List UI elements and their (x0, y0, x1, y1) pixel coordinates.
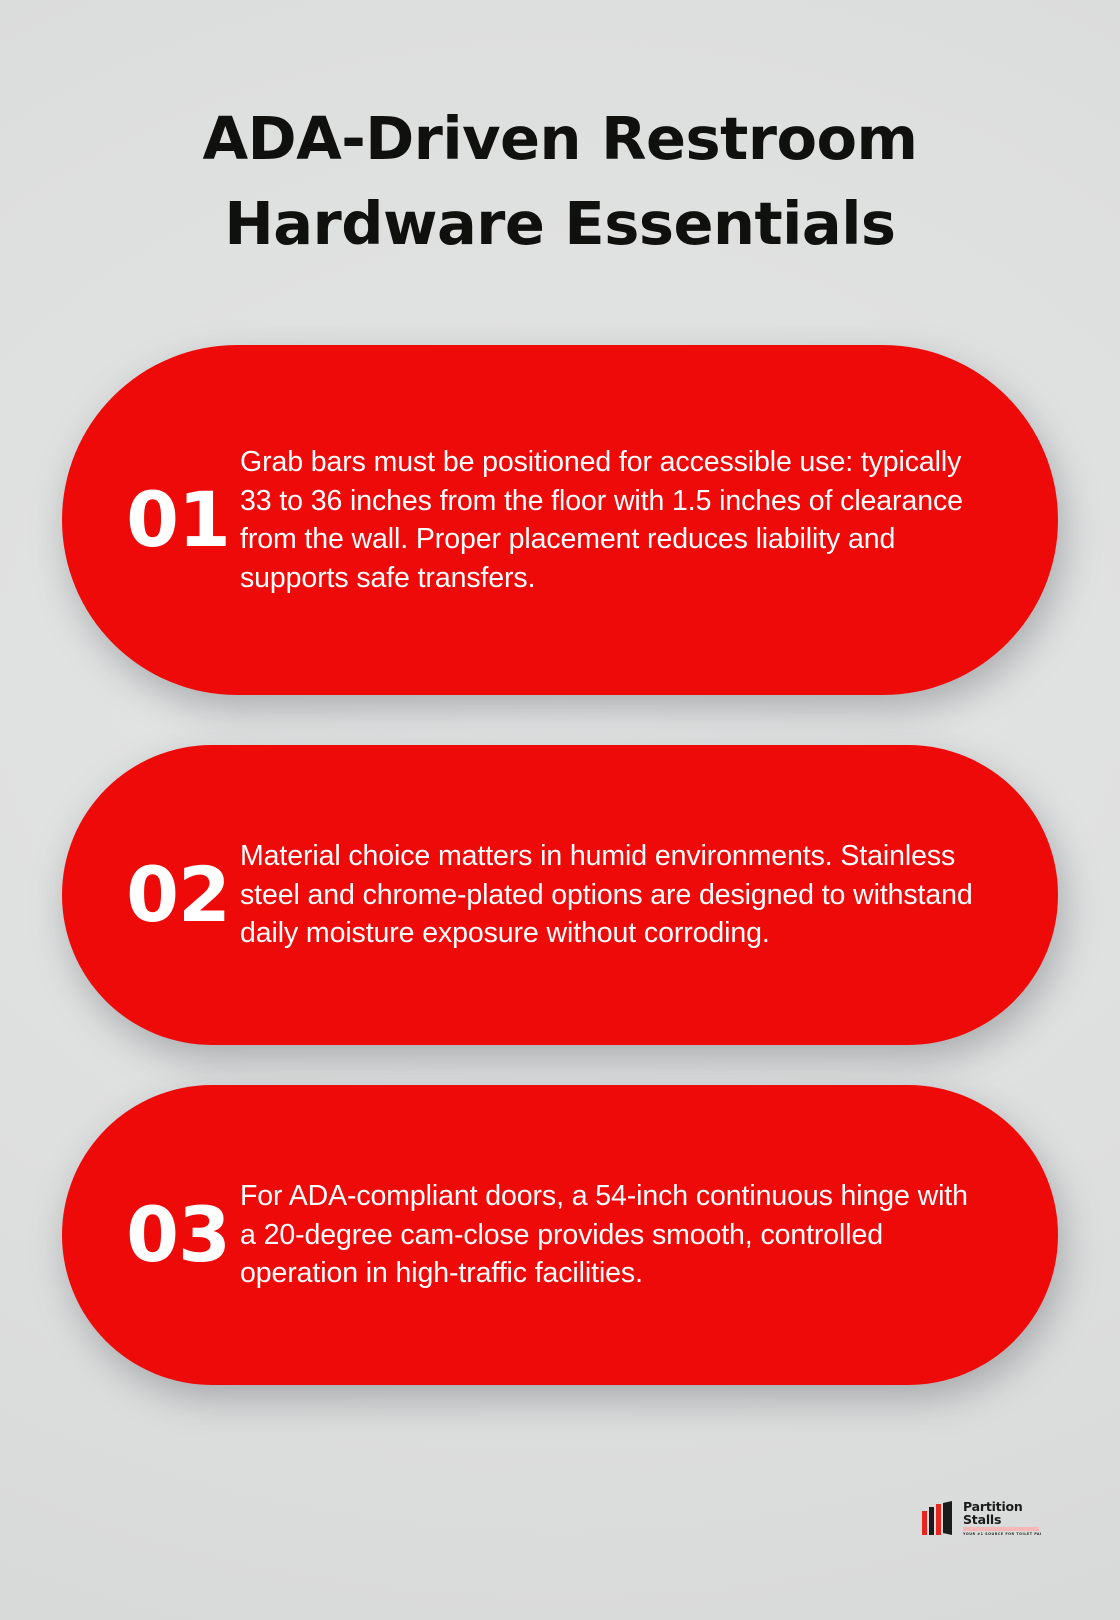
partition-bars-icon (920, 1501, 956, 1535)
brand-logo: Partition Stalls YOUR #1 SOURCE FOR TOIL… (920, 1494, 1048, 1542)
steps-list: 01 Grab bars must be positioned for acce… (0, 0, 1120, 1620)
list-item: 02 Material choice matters in humid envi… (62, 745, 1058, 1045)
list-item: 01 Grab bars must be positioned for acce… (62, 345, 1058, 695)
logo-underline-rule (963, 1527, 1039, 1531)
step-description: Grab bars must be positioned for accessi… (240, 443, 1058, 597)
step-number-badge: 02 (62, 857, 240, 933)
logo-tagline: YOUR #1 SOURCE FOR TOILET PARTITIONS (963, 1532, 1041, 1537)
step-description: For ADA-compliant doors, a 54-inch conti… (240, 1177, 1058, 1293)
logo-bar-3 (936, 1504, 941, 1535)
step-number-badge: 03 (62, 1197, 240, 1273)
logo-wordmark: Partition Stalls YOUR #1 SOURCE FOR TOIL… (963, 1500, 1048, 1537)
logo-word-stalls: Stalls (963, 1513, 1048, 1526)
logo-word-partition: Partition (963, 1500, 1048, 1513)
step-number-badge: 01 (62, 482, 240, 558)
step-description: Material choice matters in humid environ… (240, 837, 1058, 953)
logo-bar-1 (922, 1511, 927, 1535)
logo-bar-2 (929, 1507, 934, 1535)
list-item: 03 For ADA-compliant doors, a 54-inch co… (62, 1085, 1058, 1385)
logo-bar-4 (943, 1501, 952, 1535)
